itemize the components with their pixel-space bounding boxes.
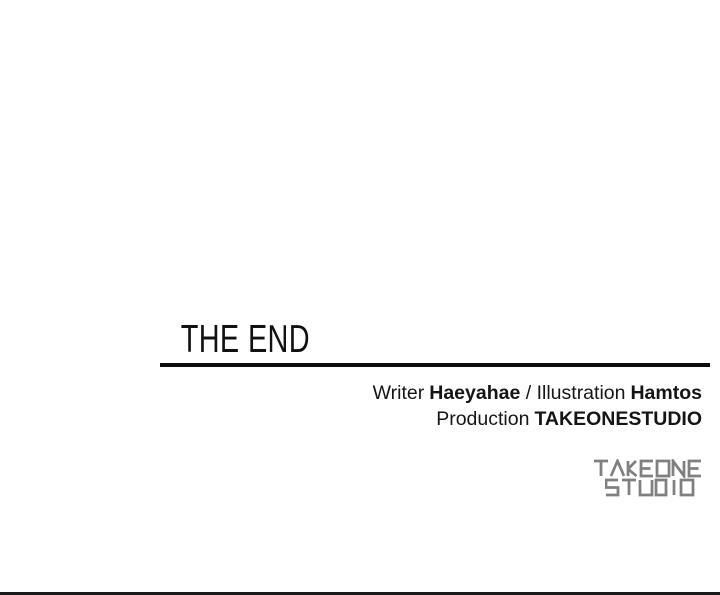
logo-line-takeone (593, 459, 705, 478)
logo-line-studio (593, 478, 705, 497)
credit-value-writer: Haeyahae (429, 382, 520, 404)
credits-block: WriterHaeyahae / IllustrationHamtos Prod… (182, 380, 702, 432)
the-end-block: THE END (160, 318, 710, 367)
credit-label-production: Production (436, 408, 529, 430)
credit-separator: / (526, 382, 531, 404)
logo-studio-glyphs (605, 478, 705, 497)
credit-label-writer: Writer (373, 382, 425, 404)
credit-line-production: ProductionTAKEONESTUDIO (182, 406, 702, 432)
end-card-page: THE END WriterHaeyahae / IllustrationHam… (0, 0, 720, 595)
the-end-title: THE END (160, 318, 567, 362)
credit-line-writer: WriterHaeyahae / IllustrationHamtos (182, 380, 702, 406)
credit-value-illustration: Hamtos (630, 382, 702, 404)
credit-label-illustration: Illustration (537, 382, 626, 404)
credit-value-production: TAKEONESTUDIO (534, 408, 702, 430)
takeone-studio-logo (593, 459, 705, 497)
horizontal-rule (160, 363, 710, 367)
logo-takeone-glyphs (593, 459, 705, 478)
